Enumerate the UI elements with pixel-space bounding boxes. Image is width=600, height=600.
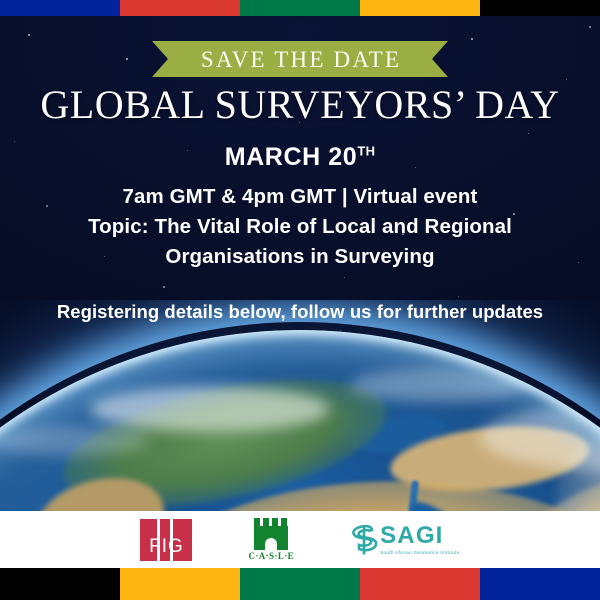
- event-topic-line-2: Organisations in Surveying: [0, 242, 600, 272]
- casle-logo[interactable]: C·A·S·L·E: [248, 518, 294, 561]
- registration-note: Registering details below, follow us for…: [0, 301, 600, 323]
- castle-crenellations-icon: [254, 518, 288, 526]
- color-band-blue: [0, 0, 120, 16]
- color-band-blue: [480, 568, 600, 600]
- event-topic-line-1: Topic: The Vital Role of Local and Regio…: [0, 212, 600, 242]
- castle-body-icon: [254, 526, 288, 550]
- color-band-red: [360, 568, 480, 600]
- event-details: 7am GMT & 4pm GMT | Virtual event Topic:…: [0, 182, 600, 272]
- bottom-color-bar: [0, 568, 600, 600]
- color-band-red: [120, 0, 240, 16]
- event-date: MARCH 20TH: [0, 143, 600, 172]
- color-band-yellow: [120, 568, 240, 600]
- color-band-green: [240, 568, 360, 600]
- ribbon-label: SAVE THE DATE: [199, 48, 401, 71]
- color-band-black: [480, 0, 600, 16]
- sagi-wordmark: SAGI South African Geomatics Institute: [380, 524, 459, 556]
- cloud: [350, 368, 530, 402]
- sagi-s-monogram-icon: [350, 525, 378, 555]
- event-date-main: MARCH 20: [225, 143, 358, 171]
- sagi-logo-text: SAGI: [380, 524, 459, 548]
- save-the-date-ribbon: SAVE THE DATE: [152, 41, 448, 77]
- event-time-line: 7am GMT & 4pm GMT | Virtual event: [0, 182, 600, 212]
- earth-globe-image: [0, 300, 600, 515]
- color-band-yellow: [360, 0, 480, 16]
- event-date-ordinal-suffix: TH: [357, 144, 375, 159]
- color-band-green: [240, 0, 360, 16]
- castle-tower-icon: [254, 518, 288, 550]
- top-color-bar: [0, 0, 600, 16]
- partner-logo-band: FIG C·A·S·L·E SAGI South African Geomati…: [0, 511, 600, 568]
- casle-logo-text: C·A·S·L·E: [248, 552, 294, 561]
- cloud: [90, 386, 330, 432]
- sagi-logo[interactable]: SAGI South African Geomatics Institute: [350, 524, 459, 556]
- color-band-black: [0, 568, 120, 600]
- fig-mark-icon: FIG: [140, 519, 192, 561]
- fig-logo-text: FIG: [149, 537, 184, 561]
- page-title: GLOBAL SURVEYORS’ DAY: [0, 84, 600, 126]
- earth-sphere: [0, 330, 600, 515]
- save-the-date-poster: SAVE THE DATE GLOBAL SURVEYORS’ DAY MARC…: [0, 0, 600, 600]
- sagi-logo-subtitle: South African Geomatics Institute: [380, 551, 459, 556]
- fig-logo[interactable]: FIG: [140, 519, 192, 561]
